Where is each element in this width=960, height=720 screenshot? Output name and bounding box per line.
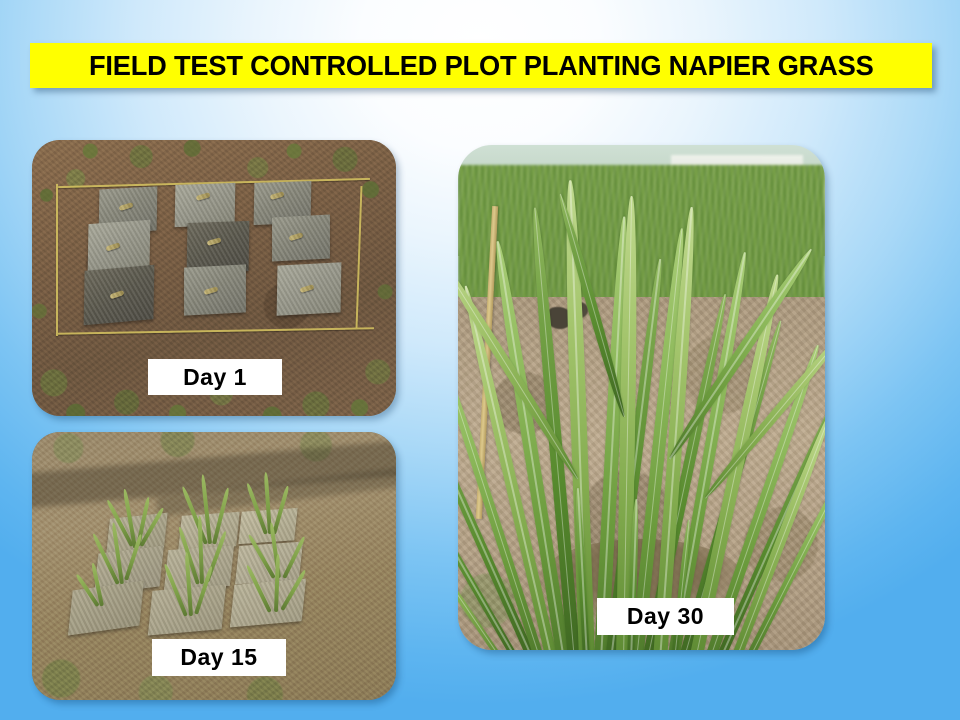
mulch-mat	[184, 264, 246, 315]
grass-cutting	[106, 242, 121, 251]
photo-day30-scene	[458, 145, 825, 650]
mulch-mat	[272, 214, 330, 261]
photo-day15: Day 15	[32, 432, 396, 700]
grass-cutting	[119, 202, 134, 211]
mulch-mat	[175, 183, 236, 227]
grass-cutting	[196, 192, 211, 201]
mulch-mat	[277, 262, 342, 315]
day15-label: Day 15	[152, 639, 286, 676]
title-banner: FIELD TEST CONTROLLED PLOT PLANTING NAPI…	[30, 43, 932, 88]
day30-label: Day 30	[597, 598, 734, 635]
day1-label: Day 1	[148, 359, 282, 395]
page-title: FIELD TEST CONTROLLED PLOT PLANTING NAPI…	[89, 52, 874, 80]
twine-line	[56, 184, 58, 336]
grass-cutting	[204, 286, 219, 295]
grass-cutting	[300, 284, 315, 293]
photo-day1: Day 1	[32, 140, 396, 416]
grass-cutting	[270, 191, 285, 200]
grass-cutting	[110, 290, 125, 299]
mulch-mat	[84, 265, 155, 325]
mulch-mat	[88, 220, 151, 273]
day15-label-text: Day 15	[180, 646, 257, 669]
day1-label-text: Day 1	[183, 366, 247, 389]
slide-canvas: FIELD TEST CONTROLLED PLOT PLANTING NAPI…	[0, 0, 960, 720]
day30-label-text: Day 30	[627, 605, 704, 628]
grass-cutting	[207, 237, 222, 246]
grass-cutting	[289, 232, 304, 241]
photo-day30: Day 30	[458, 145, 825, 650]
